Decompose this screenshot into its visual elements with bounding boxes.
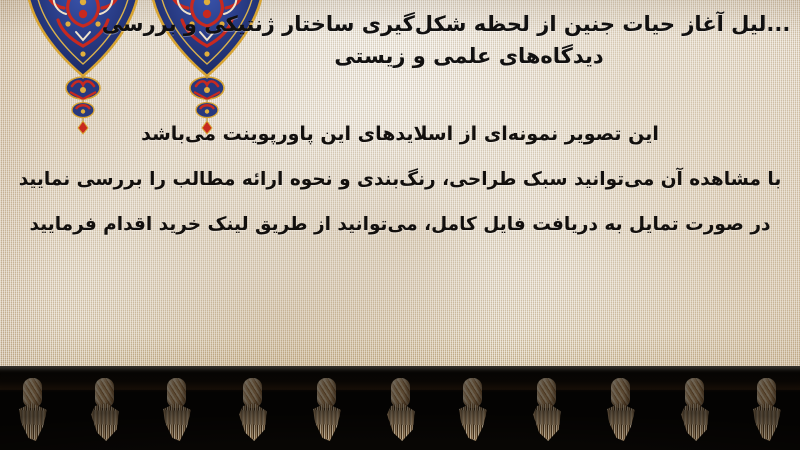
body-line-3: در صورت تمایل به دریافت فایل کامل، می‌تو… [0,202,800,247]
fringe-tassel [386,378,416,442]
title-line-2: دیدگاه‌های علمی و زیستی [66,40,800,72]
slide-body-text: این تصویر نمونه‌ای از اسلایدهای این پاور… [0,112,800,247]
fringe-tassel [532,378,562,442]
body-line-2: با مشاهده آن می‌توانید سبک طراحی، رنگ‌بن… [0,157,800,202]
fringe-tassel [606,378,636,442]
fringe-tassel [162,378,192,442]
slide-title: ...لیل آغاز حیات جنین از لحظه شکل‌گیری س… [66,8,800,72]
fringe-tassel [312,378,342,442]
presentation-slide: ...لیل آغاز حیات جنین از لحظه شکل‌گیری س… [0,0,800,450]
body-line-1: این تصویر نمونه‌ای از اسلایدهای این پاور… [0,112,800,157]
fringe-tassel [18,378,48,442]
title-line-1: ...لیل آغاز حیات جنین از لحظه شکل‌گیری س… [66,8,800,40]
carpet-fringe-band [0,366,800,450]
fringe-tassel [238,378,268,442]
fringe-tassel [752,378,782,442]
fringe-tassel [458,378,488,442]
fringe-tassel [90,378,120,442]
fringe-tassel [680,378,710,442]
linen-canvas-background: ...لیل آغاز حیات جنین از لحظه شکل‌گیری س… [0,0,800,378]
